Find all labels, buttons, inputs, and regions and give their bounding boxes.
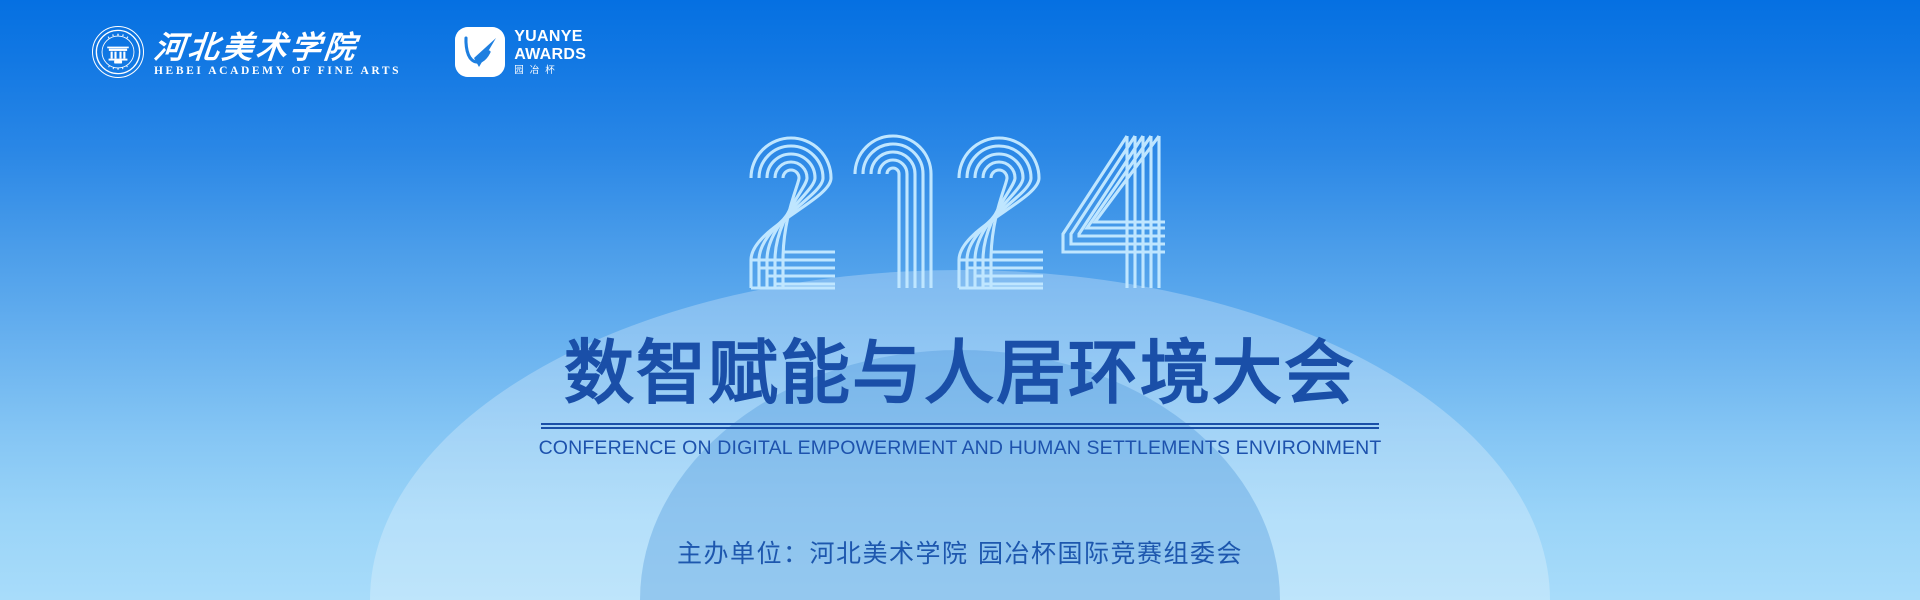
conference-banner: 河北美术学院 HEBEI ACADEMY OF FINE ARTS YUANYE…: [0, 0, 1920, 600]
page-subtitle: CONFERENCE ON DIGITAL EMPOWERMENT AND HU…: [0, 437, 1920, 460]
yuanye-y-mark-icon: [455, 27, 505, 77]
hebei-academy-logo[interactable]: 河北美术学院 HEBEI ACADEMY OF FINE ARTS: [92, 26, 401, 78]
page-title: 数智赋能与人居环境大会: [0, 338, 1920, 408]
year-2024-graphic: 2024: [745, 130, 1175, 295]
yuanye-line2: AWARDS: [514, 47, 586, 63]
title-divider-line-1: [541, 423, 1379, 425]
logo-row: 河北美术学院 HEBEI ACADEMY OF FINE ARTS YUANYE…: [92, 26, 586, 78]
hebei-wordmark: 河北美术学院 HEBEI ACADEMY OF FINE ARTS: [154, 33, 401, 79]
hebei-chinese-name: 河北美术学院: [152, 33, 402, 64]
organizer-line: 主办单位：河北美术学院 园冶杯国际竞赛组委会: [0, 534, 1920, 570]
title-divider-line-2: [541, 427, 1379, 429]
title-divider: [541, 423, 1379, 428]
academy-seal-icon: [92, 26, 144, 78]
title-block: 数智赋能与人居环境大会 CONFERENCE ON DIGITAL EMPOWE…: [0, 338, 1920, 460]
yuanye-chinese-name: 园冶杯: [514, 66, 586, 76]
hebei-english-name: HEBEI ACADEMY OF FINE ARTS: [154, 66, 401, 78]
yuanye-line1: YUANYE: [514, 29, 586, 45]
yuanye-awards-logo[interactable]: YUANYE AWARDS 园冶杯: [455, 27, 586, 77]
yuanye-wordmark: YUANYE AWARDS 园冶杯: [514, 29, 586, 76]
